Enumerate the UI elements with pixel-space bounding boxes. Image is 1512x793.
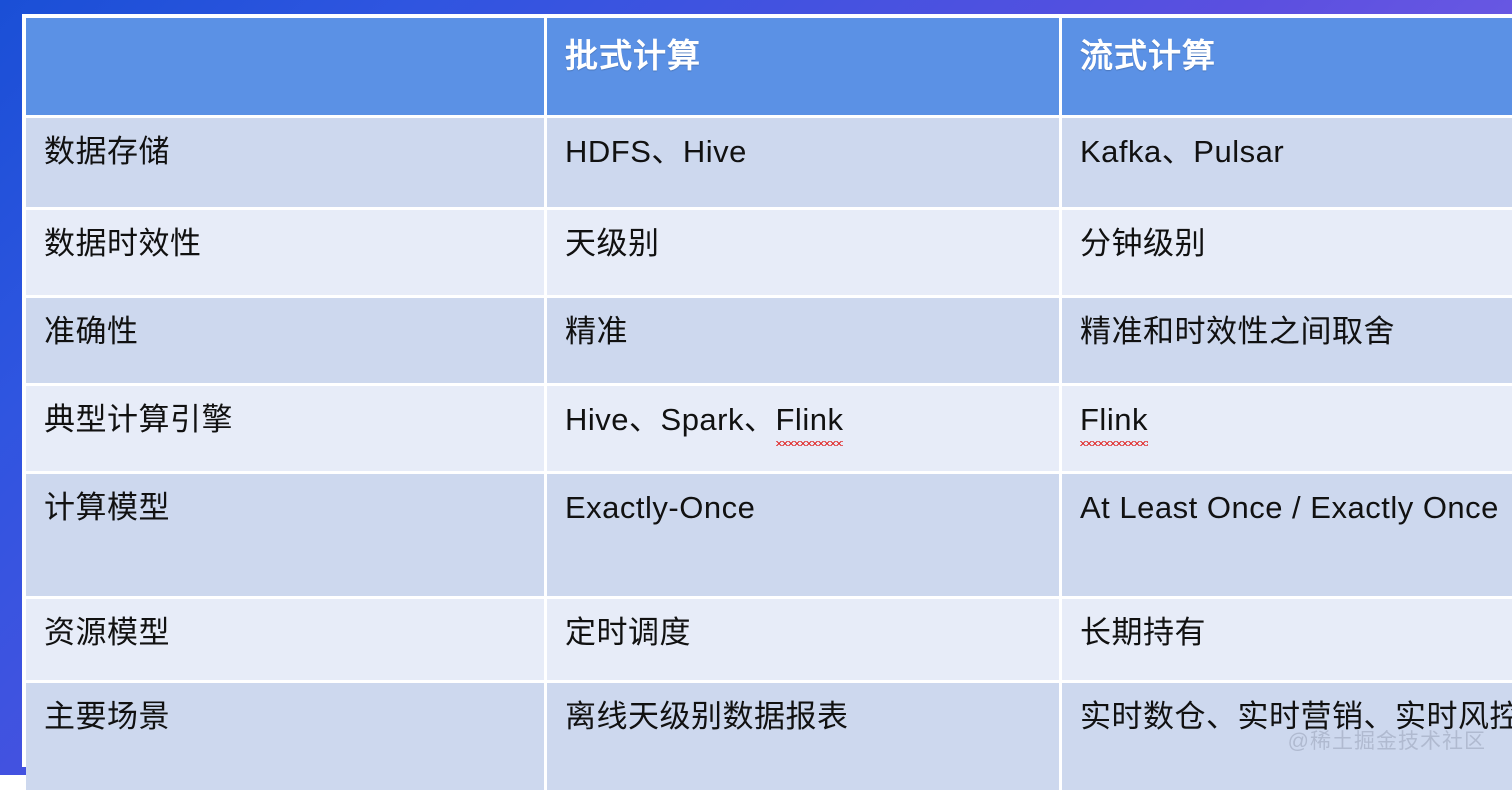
table-header-row: 批式计算 流式计算 (26, 18, 1512, 116)
cell-stream-data-storage: Kafka、Pulsar (1061, 116, 1512, 208)
slide-frame: 批式计算 流式计算 数据存储 HDFS、Hive Kafka、Pulsar 数据… (0, 0, 1512, 775)
cell-stream-compute-model: At Least Once / Exactly Once (1061, 472, 1512, 597)
header-cell-dimension (26, 18, 546, 116)
cell-stream-resource-model: 长期持有 (1061, 597, 1512, 681)
row-label-resource-model: 资源模型 (26, 597, 546, 681)
cell-batch-resource-model: 定时调度 (546, 597, 1061, 681)
comparison-table: 批式计算 流式计算 数据存储 HDFS、Hive Kafka、Pulsar 数据… (26, 18, 1512, 793)
cell-batch-data-latency: 天级别 (546, 208, 1061, 296)
cell-stream-typical-engine: Flink (1061, 384, 1512, 472)
row-label-typical-engine: 典型计算引擎 (26, 384, 546, 472)
spellcheck-word-flink: Flink (1080, 399, 1148, 441)
row-label-accuracy: 准确性 (26, 296, 546, 384)
table-row: 数据存储 HDFS、Hive Kafka、Pulsar (26, 116, 1512, 208)
cell-batch-data-storage: HDFS、Hive (546, 116, 1061, 208)
spellcheck-word-flink: Flink (776, 399, 844, 441)
table-row: 计算模型 Exactly-Once At Least Once / Exactl… (26, 472, 1512, 597)
row-label-data-storage: 数据存储 (26, 116, 546, 208)
cell-stream-accuracy: 精准和时效性之间取舍 (1061, 296, 1512, 384)
engine-list-prefix: Hive、Spark、 (565, 402, 776, 437)
row-label-data-latency: 数据时效性 (26, 208, 546, 296)
table-row: 资源模型 定时调度 长期持有 (26, 597, 1512, 681)
slide-inner: 批式计算 流式计算 数据存储 HDFS、Hive Kafka、Pulsar 数据… (22, 14, 1512, 767)
table-row: 典型计算引擎 Hive、Spark、Flink Flink (26, 384, 1512, 472)
cell-batch-accuracy: 精准 (546, 296, 1061, 384)
table-row: 数据时效性 天级别 分钟级别 (26, 208, 1512, 296)
header-cell-batch: 批式计算 (546, 18, 1061, 116)
cell-batch-compute-model: Exactly-Once (546, 472, 1061, 597)
cell-stream-data-latency: 分钟级别 (1061, 208, 1512, 296)
row-label-compute-model: 计算模型 (26, 472, 546, 597)
header-cell-stream: 流式计算 (1061, 18, 1512, 116)
cell-batch-typical-engine: Hive、Spark、Flink (546, 384, 1061, 472)
table-row: 准确性 精准 精准和时效性之间取舍 (26, 296, 1512, 384)
